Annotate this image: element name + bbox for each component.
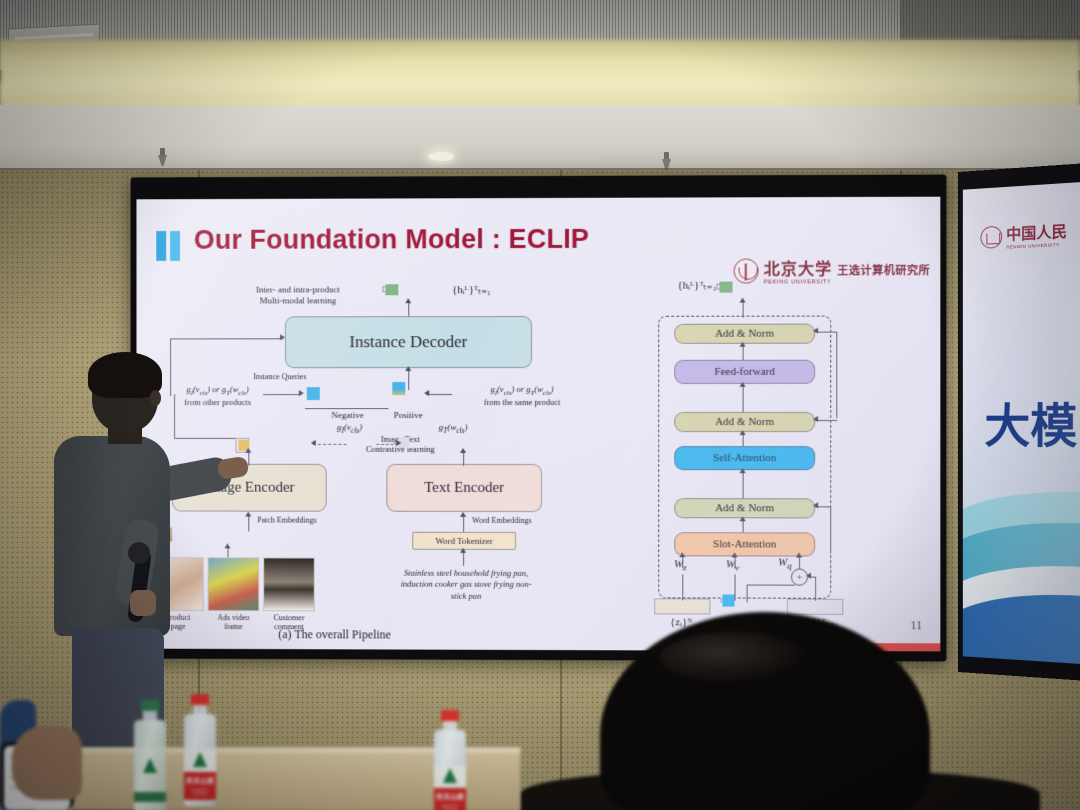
instance-decoder-label: Instance Decoder: [349, 332, 467, 352]
pku-name-cn: 北京大学: [764, 255, 833, 279]
water-bottle-green: [132, 700, 168, 810]
presentation-screen: Our Foundation Model : ECLIP 北京大学 PEKING…: [131, 175, 947, 662]
feed-forward-block: Feed-forward: [674, 360, 815, 384]
bottle-brand-en: NONGFU SPRING: [434, 804, 466, 810]
h-input-box: [787, 599, 843, 615]
self-attention-label: Self-Attention: [713, 452, 776, 464]
water-bottle-red-2: 农夫山泉 NONGFU SPRING: [432, 710, 468, 810]
ads-video-frame-image: [208, 557, 260, 611]
bottle-brand-en: NONGFU SPRING: [184, 788, 216, 796]
transformer-output-tokens: [716, 284, 722, 290]
title-accent-bars-icon: [156, 231, 184, 261]
conference-room-scene: Our Foundation Model : ECLIP 北京大学 PEKING…: [0, 0, 1080, 810]
bottle-mountain-logo-icon: [443, 768, 457, 783]
text-encoder-label: Text Encoder: [424, 479, 504, 496]
product-description-text: Stainless steel household frying pan, in…: [396, 568, 536, 603]
patch-embeddings-label: Patch Embeddings: [257, 516, 356, 526]
customer-comment-image: [263, 557, 315, 611]
ceiling-downlight: [428, 152, 454, 161]
add-norm-label-3: Add & Norm: [715, 502, 774, 514]
secondary-screen: 中国人民 RENMIN UNIVERSITY 大模: [958, 162, 1080, 682]
slot-attention-block: Slot-Attention: [674, 532, 815, 556]
ruc-name-cn: 中国人民: [1006, 220, 1067, 245]
bottle-mountain-logo-icon: [193, 752, 207, 767]
secondary-slide-content: 中国人民 RENMIN UNIVERSITY 大模: [963, 181, 1080, 665]
secondary-slide-title: 大模: [984, 389, 1077, 457]
caption-a: (a) The overall Pipeline: [245, 627, 424, 642]
audience-hair-highlight: [660, 632, 810, 684]
slide-header: Our Foundation Model : ECLIP 北京大学 PEKING…: [136, 225, 940, 271]
bottle-brand-cn: 农夫山泉: [434, 792, 466, 802]
transformer-output-math-label: {hᵢᴸ}ᵀₜ₌₁: [662, 280, 716, 293]
multimodal-learning-label: Inter- and intra-productMulti-modal lear…: [224, 284, 373, 305]
pku-name-en: PEKING UNIVERSITY: [764, 279, 833, 285]
sprinkler-head: [158, 148, 167, 166]
output-token-row: [382, 286, 388, 292]
add-norm-label-1: Add & Norm: [715, 328, 774, 340]
instance-decoder-box: Instance Decoder: [285, 316, 532, 368]
word-embeddings-label: Word Embeddings: [472, 516, 576, 526]
weight-v-label: Wv: [720, 558, 744, 573]
positive-label: Positive: [386, 410, 430, 421]
microphone-head: [128, 542, 150, 564]
add-norm-label-2: Add & Norm: [715, 416, 774, 428]
peking-university-logo: 北京大学 PEKING UNIVERSITY 王选计算机研究所: [734, 255, 931, 286]
bottle-mountain-logo-icon: [143, 758, 157, 773]
holding-hand: [12, 726, 82, 800]
negative-label: Negative: [307, 410, 389, 421]
output-token-math-label: {hᵢᴸ}ᵀₜ₌₁: [452, 284, 532, 297]
instance-query-tokens: ···: [307, 388, 316, 398]
z-input-box: [654, 598, 710, 614]
instance-queries-label: Instance Queries: [253, 372, 356, 381]
pku-institute-name: 王选计算机研究所: [837, 262, 930, 278]
slot-attention-label: Slot-Attention: [713, 538, 776, 550]
word-tokenizer-label: Word Tokenizer: [435, 536, 493, 546]
weight-z-label: Wz: [668, 558, 692, 573]
water-bottle-red-1: 农夫山泉 NONGFU SPRING: [182, 694, 218, 806]
add-norm-block-2: Add & Norm: [674, 412, 815, 432]
ruc-seal-icon: [980, 226, 1002, 249]
slide-content: Our Foundation Model : ECLIP 北京大学 PEKING…: [136, 197, 940, 652]
ceiling-shadow: [900, 0, 1080, 40]
bottle-brand-cn: 农夫山泉: [184, 776, 216, 786]
slide-page-number: 11: [910, 618, 922, 633]
text-encoder-box: Text Encoder: [386, 464, 542, 512]
pku-seal-icon: [734, 258, 759, 283]
same-product-source-label: gI(vcls) or gT(wcls) from the same produ…: [456, 384, 588, 407]
presenter-mic-hand: [130, 590, 156, 616]
renmin-university-logo: 中国人民 RENMIN UNIVERSITY: [980, 220, 1067, 251]
bottle-label-band: [134, 792, 166, 802]
slide-title: Our Foundation Model : ECLIP: [194, 224, 589, 256]
presenter-ear: [150, 390, 161, 406]
q-input-tokens: [720, 598, 724, 602]
feed-forward-label: Feed-forward: [714, 366, 774, 378]
self-attention-block: Self-Attention: [674, 446, 815, 470]
